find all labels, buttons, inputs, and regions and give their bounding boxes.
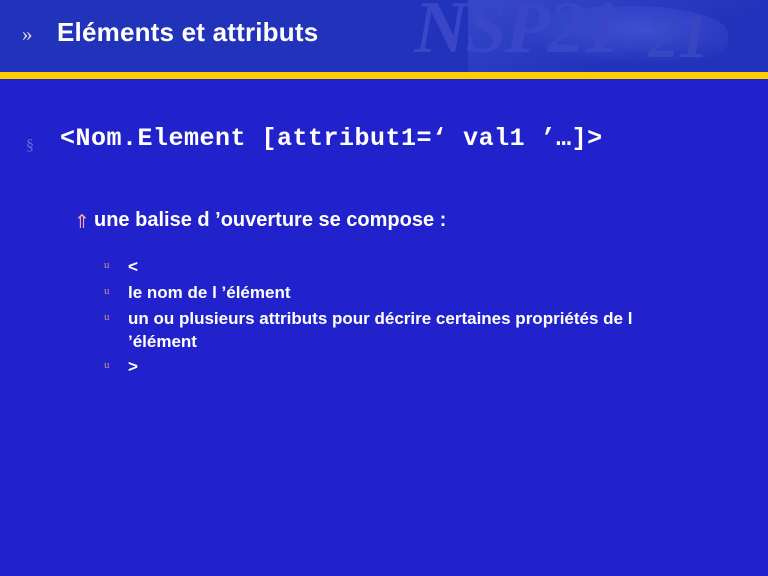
level1-bullet-icon: § <box>26 137 34 155</box>
list-item: u < <box>104 255 704 279</box>
list-item: u le nom de l ’élément <box>104 281 704 305</box>
level3-list: u < u le nom de l ’élément u un ou plusi… <box>104 255 704 381</box>
header-accent-rule <box>0 72 768 79</box>
slide: NSP21 21 » Eléments et attributs § <Nom.… <box>0 0 768 576</box>
level2-label: une balise d ’ouverture se compose : <box>94 209 446 232</box>
list-item-label: le nom de l ’élément <box>128 281 704 304</box>
square-bullet-icon: u <box>104 359 110 371</box>
list-item: u > <box>104 355 704 379</box>
list-item: u un ou plusieurs attributs pour décrire… <box>104 307 704 353</box>
list-item-label: un ou plusieurs attributs pour décrire c… <box>128 307 704 353</box>
up-arrow-icon: ⇑ <box>74 211 90 234</box>
header-watermark-text: NSP21 <box>414 0 618 71</box>
list-item-label: < <box>128 255 704 278</box>
slide-body: § <Nom.Element [attribut1=‘ val1 ’…]> ⇑ … <box>0 79 768 576</box>
element-syntax-code: <Nom.Element [attribut1=‘ val1 ’…]> <box>60 124 603 153</box>
header-watermark-text-2: 21 <box>648 2 708 72</box>
square-bullet-icon: u <box>104 311 110 323</box>
list-item-label: > <box>128 355 704 378</box>
page-title: Eléments et attributs <box>57 17 318 48</box>
title-bullet-icon: » <box>22 22 33 47</box>
slide-header: NSP21 21 » Eléments et attributs <box>0 0 768 72</box>
square-bullet-icon: u <box>104 259 110 271</box>
square-bullet-icon: u <box>104 285 110 297</box>
